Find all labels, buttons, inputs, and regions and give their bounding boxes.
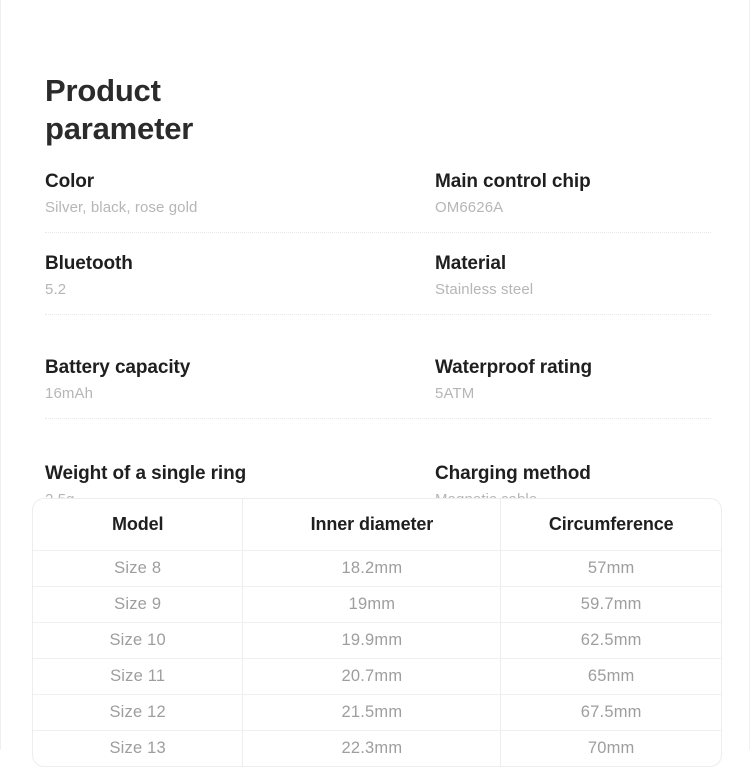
spec-row: Bluetooth 5.2 Material Stainless steel <box>45 232 711 334</box>
cell-circumference: 65mm <box>501 659 721 695</box>
spec-row: Color Silver, black, rose gold Main cont… <box>45 170 711 232</box>
row-separator <box>45 314 711 315</box>
spec-value: Silver, black, rose gold <box>45 198 435 217</box>
cell-inner-diameter: 18.2mm <box>243 551 501 587</box>
spec-label: Weight of a single ring <box>45 462 435 486</box>
cell-inner-diameter: 19.9mm <box>243 623 501 659</box>
size-chart-table: Model Inner diameter Circumference Size … <box>33 499 721 766</box>
spec-item-bluetooth: Bluetooth 5.2 <box>45 252 435 334</box>
table-row: Size 12 21.5mm 67.5mm <box>33 695 721 731</box>
cell-model: Size 12 <box>33 695 243 731</box>
cell-circumference: 57mm <box>501 551 721 587</box>
cell-circumference: 67.5mm <box>501 695 721 731</box>
table-row: Size 10 19.9mm 62.5mm <box>33 623 721 659</box>
cell-inner-diameter: 21.5mm <box>243 695 501 731</box>
cell-model: Size 9 <box>33 587 243 623</box>
spec-value: 5ATM <box>435 384 711 403</box>
spec-item-material: Material Stainless steel <box>435 252 711 334</box>
column-header-circumference: Circumference <box>501 499 721 551</box>
table-row: Size 8 18.2mm 57mm <box>33 551 721 587</box>
cell-circumference: 59.7mm <box>501 587 721 623</box>
spec-label: Main control chip <box>435 170 711 194</box>
column-header-model: Model <box>33 499 243 551</box>
spec-label: Battery capacity <box>45 356 435 380</box>
table-row: Size 11 20.7mm 65mm <box>33 659 721 695</box>
product-parameter-page: Product parameter Color Silver, black, r… <box>0 0 750 750</box>
specification-list: Color Silver, black, rose gold Main cont… <box>45 170 711 542</box>
spec-row: Battery capacity 16mAh Waterproof rating… <box>45 334 711 440</box>
spec-label: Material <box>435 252 711 276</box>
page-title-line-2: parameter <box>45 111 193 146</box>
spec-item-battery-capacity: Battery capacity 16mAh <box>45 356 435 440</box>
column-header-inner-diameter: Inner diameter <box>243 499 501 551</box>
page-title: Product parameter <box>45 72 465 148</box>
cell-circumference: 62.5mm <box>501 623 721 659</box>
cell-model: Size 8 <box>33 551 243 587</box>
cell-inner-diameter: 22.3mm <box>243 731 501 767</box>
spec-value: OM6626A <box>435 198 711 217</box>
spec-label: Charging method <box>435 462 711 486</box>
spec-item-waterproof-rating: Waterproof rating 5ATM <box>435 356 711 440</box>
cell-inner-diameter: 20.7mm <box>243 659 501 695</box>
table-header-row: Model Inner diameter Circumference <box>33 499 721 551</box>
spec-value: 5.2 <box>45 280 435 299</box>
size-chart-table-container: Model Inner diameter Circumference Size … <box>32 498 722 767</box>
spec-item-color: Color Silver, black, rose gold <box>45 170 435 232</box>
spec-value: Stainless steel <box>435 280 711 299</box>
row-separator <box>45 418 711 419</box>
cell-model: Size 11 <box>33 659 243 695</box>
spec-label: Waterproof rating <box>435 356 711 380</box>
table-row: Size 13 22.3mm 70mm <box>33 731 721 767</box>
spec-label: Bluetooth <box>45 252 435 276</box>
cell-model: Size 10 <box>33 623 243 659</box>
cell-model: Size 13 <box>33 731 243 767</box>
spec-value: 16mAh <box>45 384 435 403</box>
cell-inner-diameter: 19mm <box>243 587 501 623</box>
spec-label: Color <box>45 170 435 194</box>
spec-item-main-control-chip: Main control chip OM6626A <box>435 170 711 232</box>
cell-circumference: 70mm <box>501 731 721 767</box>
page-title-line-1: Product <box>45 73 161 108</box>
table-row: Size 9 19mm 59.7mm <box>33 587 721 623</box>
